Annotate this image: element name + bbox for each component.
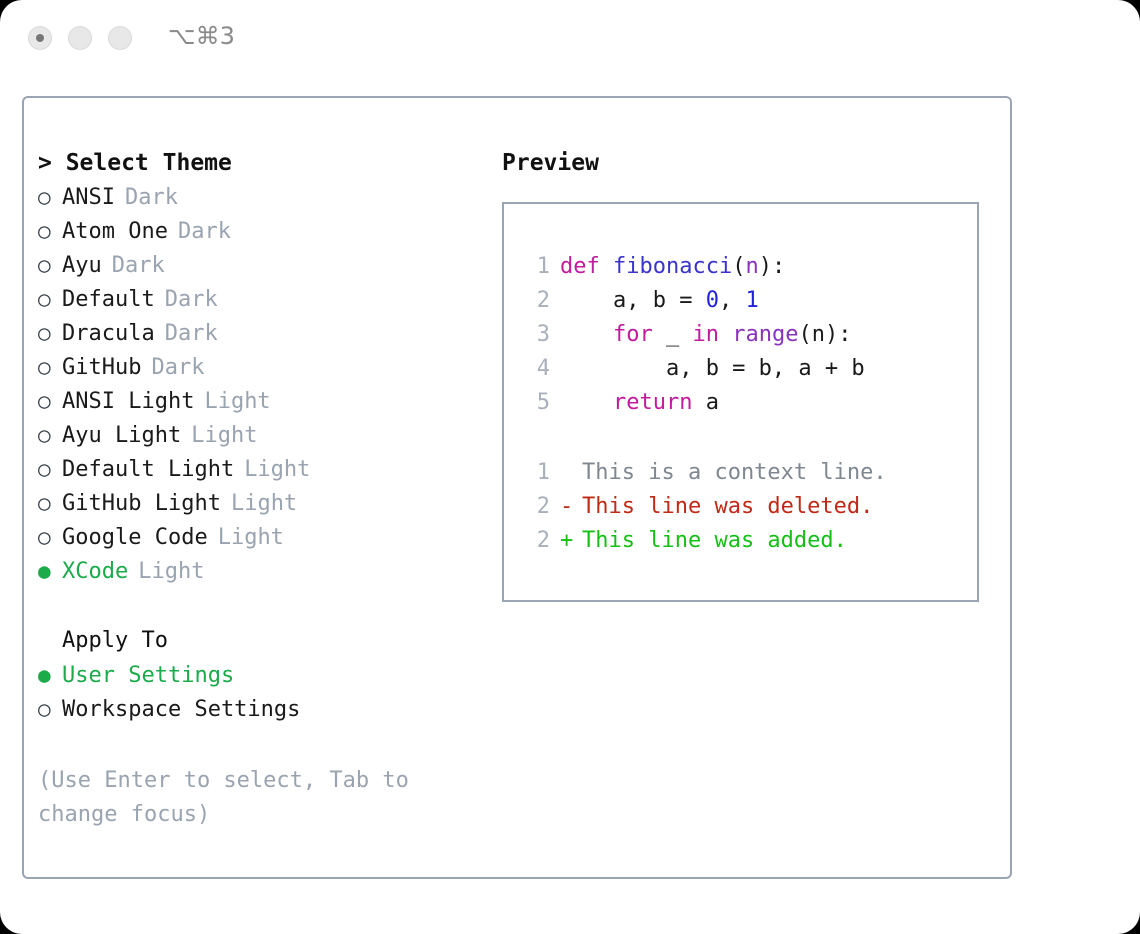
theme-name: Ayu bbox=[62, 249, 102, 283]
code-token-plain bbox=[560, 390, 613, 415]
theme-selector-column: > Select Theme ○ANSIDark○Atom OneDark○Ay… bbox=[38, 146, 498, 832]
theme-name: Default Light bbox=[62, 453, 234, 487]
theme-option-default-light[interactable]: ○Default LightLight bbox=[38, 452, 498, 486]
theme-option-atom-one[interactable]: ○Atom OneDark bbox=[38, 214, 498, 248]
radio-unselected-icon: ○ bbox=[38, 452, 62, 486]
code-token-plain: (n): bbox=[798, 322, 851, 347]
code-line-text: for _ in range(n): bbox=[560, 318, 851, 352]
diff-sign: - bbox=[560, 490, 582, 524]
theme-name: Atom One bbox=[62, 215, 168, 249]
window-dot-third[interactable] bbox=[108, 26, 132, 50]
apply-to-option-workspace-settings[interactable]: ○Workspace Settings bbox=[38, 692, 498, 726]
apply-to-option-user-settings[interactable]: ●User Settings bbox=[38, 658, 498, 692]
diff-line-number: 2 bbox=[520, 490, 550, 524]
diff-line-number: 1 bbox=[520, 456, 550, 490]
theme-option-dracula[interactable]: ○DraculaDark bbox=[38, 316, 498, 350]
theme-name: Ayu Light bbox=[62, 419, 181, 453]
theme-option-github-light[interactable]: ○GitHub LightLight bbox=[38, 486, 498, 520]
theme-name: ANSI Light bbox=[62, 385, 194, 419]
theme-name: XCode bbox=[62, 555, 128, 589]
keyboard-hint-text: (Use Enter to select, Tab to change focu… bbox=[38, 764, 438, 832]
code-token-kw: return bbox=[613, 390, 692, 415]
apply-to-label: Workspace Settings bbox=[62, 693, 300, 727]
code-line-text: a, b = 0, 1 bbox=[560, 284, 759, 318]
code-token-kw: def bbox=[560, 254, 613, 279]
radio-unselected-icon: ○ bbox=[38, 692, 62, 726]
diff-line-text: This line was added. bbox=[582, 524, 847, 558]
code-token-builtin: range bbox=[732, 322, 798, 347]
theme-kind-label: Light bbox=[191, 419, 257, 453]
window-controls bbox=[28, 26, 132, 50]
theme-name: Default bbox=[62, 283, 155, 317]
diff-line-number: 2 bbox=[520, 524, 550, 558]
apply-to-label: User Settings bbox=[62, 659, 234, 693]
code-line-number: 4 bbox=[520, 352, 550, 386]
select-theme-heading: > Select Theme bbox=[38, 146, 498, 180]
code-token-plain: a, b = bbox=[560, 288, 706, 313]
radio-unselected-icon: ○ bbox=[38, 282, 62, 316]
theme-kind-label: Dark bbox=[112, 249, 165, 283]
radio-unselected-icon: ○ bbox=[38, 350, 62, 384]
radio-unselected-icon: ○ bbox=[38, 384, 62, 418]
diff-line-deleted: 2-This line was deleted. bbox=[520, 490, 969, 524]
theme-option-xcode[interactable]: ●XCodeLight bbox=[38, 554, 498, 588]
diff-line-text: This line was deleted. bbox=[582, 490, 873, 524]
code-line: 3 for _ in range(n): bbox=[520, 318, 969, 352]
code-token-fn: fibonacci bbox=[613, 254, 732, 279]
theme-option-google-code[interactable]: ○Google CodeLight bbox=[38, 520, 498, 554]
theme-kind-label: Dark bbox=[178, 215, 231, 249]
radio-unselected-icon: ○ bbox=[38, 486, 62, 520]
theme-option-ayu[interactable]: ○AyuDark bbox=[38, 248, 498, 282]
code-token-num: 1 bbox=[745, 288, 758, 313]
panel-content: > Select Theme ○ANSIDark○Atom OneDark○Ay… bbox=[24, 98, 1010, 877]
theme-kind-label: Dark bbox=[151, 351, 204, 385]
code-token-plain: ( bbox=[732, 254, 745, 279]
window-dot-active[interactable] bbox=[28, 26, 52, 50]
theme-name: Dracula bbox=[62, 317, 155, 351]
code-token-plain bbox=[719, 322, 732, 347]
code-token-plain: a bbox=[692, 390, 719, 415]
theme-option-default[interactable]: ○DefaultDark bbox=[38, 282, 498, 316]
theme-name: GitHub bbox=[62, 351, 141, 385]
radio-selected-icon: ● bbox=[38, 554, 62, 588]
code-token-plain: , bbox=[719, 288, 746, 313]
code-line: 2 a, b = 0, 1 bbox=[520, 284, 969, 318]
code-line-number: 2 bbox=[520, 284, 550, 318]
radio-unselected-icon: ○ bbox=[38, 418, 62, 452]
code-token-plain: a, b = b, a + b bbox=[560, 356, 865, 381]
code-line: 4 a, b = b, a + b bbox=[520, 352, 969, 386]
diff-line-context: 1 This is a context line. bbox=[520, 456, 969, 490]
code-token-kw: for bbox=[613, 322, 653, 347]
apply-to-options[interactable]: ●User Settings○Workspace Settings bbox=[38, 658, 498, 726]
theme-name: Google Code bbox=[62, 521, 208, 555]
titlebar: ⌥⌘3 bbox=[0, 0, 1140, 78]
theme-kind-label: Dark bbox=[165, 317, 218, 351]
preview-column: Preview 1def fibonacci(n):2 a, b = 0, 13… bbox=[502, 146, 1002, 602]
code-sample: 1def fibonacci(n):2 a, b = 0, 13 for _ i… bbox=[520, 250, 969, 420]
theme-option-ansi[interactable]: ○ANSIDark bbox=[38, 180, 498, 214]
radio-unselected-icon: ○ bbox=[38, 316, 62, 350]
diff-line-added: 2+This line was added. bbox=[520, 524, 969, 558]
radio-selected-icon: ● bbox=[38, 658, 62, 692]
theme-kind-label: Dark bbox=[125, 181, 178, 215]
apply-to-heading: Apply To bbox=[38, 624, 498, 658]
main-panel: > Select Theme ○ANSIDark○Atom OneDark○Ay… bbox=[22, 96, 1012, 879]
app-window: ⌥⌘3 > Select Theme ○ANSIDark○Atom OneDar… bbox=[0, 0, 1140, 934]
diff-sample: 1 This is a context line.2-This line was… bbox=[520, 456, 969, 558]
theme-kind-label: Light bbox=[204, 385, 270, 419]
diff-sign: + bbox=[560, 524, 582, 558]
theme-name: GitHub Light bbox=[62, 487, 221, 521]
radio-unselected-icon: ○ bbox=[38, 214, 62, 248]
theme-kind-label: Light bbox=[218, 521, 284, 555]
code-token-plain: ): bbox=[759, 254, 786, 279]
keyboard-shortcut-label: ⌥⌘3 bbox=[168, 22, 235, 50]
code-token-kw: in bbox=[692, 322, 719, 347]
theme-option-ansi-light[interactable]: ○ANSI LightLight bbox=[38, 384, 498, 418]
code-line-text: def fibonacci(n): bbox=[560, 250, 785, 284]
code-token-plain bbox=[560, 322, 613, 347]
radio-unselected-icon: ○ bbox=[38, 248, 62, 282]
radio-unselected-icon: ○ bbox=[38, 520, 62, 554]
code-line-number: 1 bbox=[520, 250, 550, 284]
theme-kind-label: Light bbox=[244, 453, 310, 487]
code-token-param: n bbox=[745, 254, 758, 279]
theme-kind-label: Light bbox=[138, 555, 204, 589]
code-token-num: 0 bbox=[706, 288, 719, 313]
code-line-text: return a bbox=[560, 386, 719, 420]
code-line-number: 3 bbox=[520, 318, 550, 352]
code-line: 1def fibonacci(n): bbox=[520, 250, 969, 284]
preview-heading: Preview bbox=[502, 146, 1002, 180]
theme-name: ANSI bbox=[62, 181, 115, 215]
diff-line-text: This is a context line. bbox=[582, 456, 887, 490]
code-line-text: a, b = b, a + b bbox=[560, 352, 865, 386]
window-dot-second[interactable] bbox=[68, 26, 92, 50]
code-token-plain: _ bbox=[653, 322, 693, 347]
theme-list[interactable]: ○ANSIDark○Atom OneDark○AyuDark○DefaultDa… bbox=[38, 180, 498, 588]
theme-kind-label: Dark bbox=[165, 283, 218, 317]
preview-box: 1def fibonacci(n):2 a, b = 0, 13 for _ i… bbox=[502, 202, 979, 602]
code-line: 5 return a bbox=[520, 386, 969, 420]
theme-option-ayu-light[interactable]: ○Ayu LightLight bbox=[38, 418, 498, 452]
window-dot-inner bbox=[36, 34, 44, 42]
code-line-number: 5 bbox=[520, 386, 550, 420]
theme-kind-label: Light bbox=[231, 487, 297, 521]
diff-sign bbox=[560, 456, 582, 490]
theme-option-github[interactable]: ○GitHubDark bbox=[38, 350, 498, 384]
radio-unselected-icon: ○ bbox=[38, 180, 62, 214]
apply-to-section: Apply To ●User Settings○Workspace Settin… bbox=[38, 624, 498, 726]
